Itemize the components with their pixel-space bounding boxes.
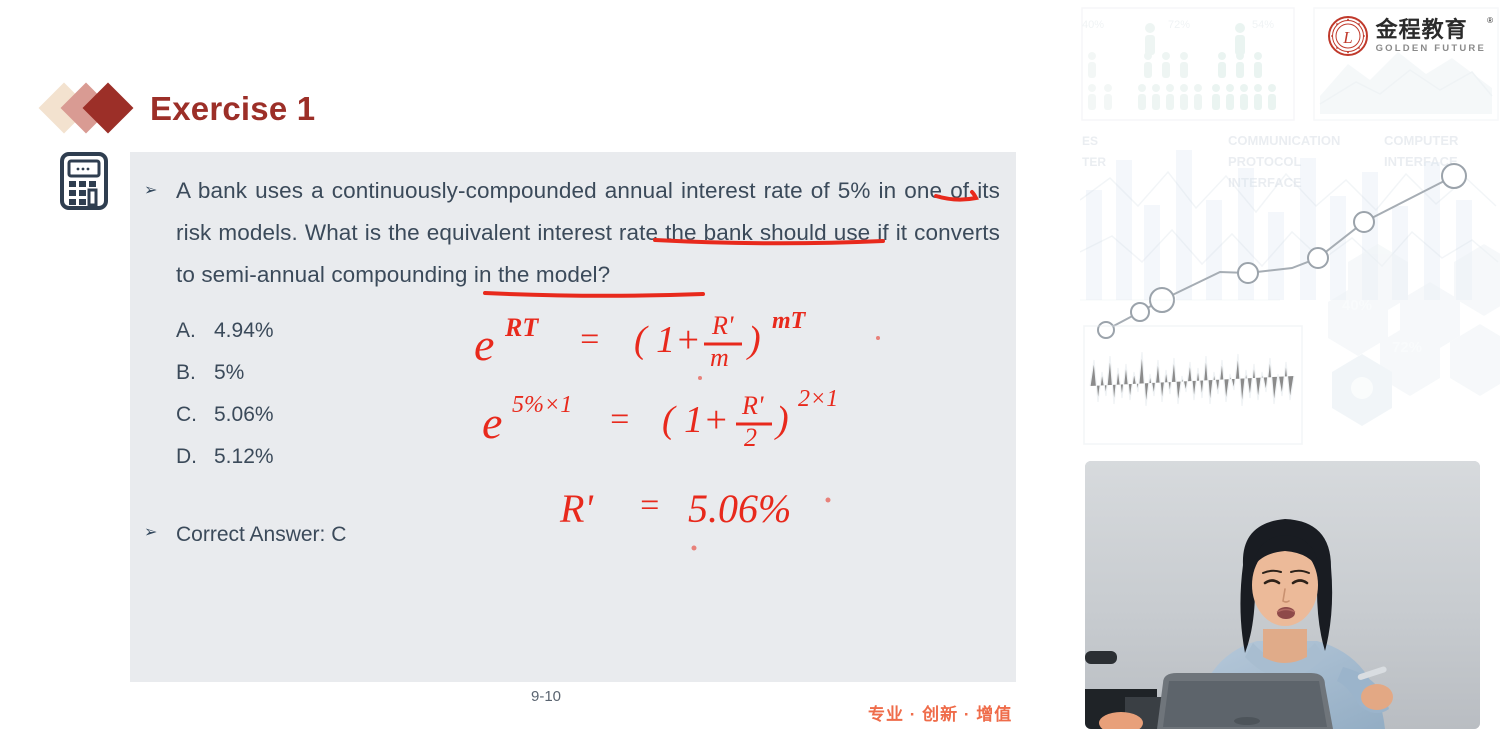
option-row[interactable]: B. 5% bbox=[176, 352, 1000, 394]
question-text: A bank uses a continuously-compounded an… bbox=[176, 170, 1000, 296]
svg-text:40%: 40% bbox=[1082, 19, 1104, 31]
footer-slogan: 专业 · 创新 · 增值 bbox=[868, 700, 1012, 725]
question-bullet-row: ➢ A bank uses a continuously-compounded … bbox=[144, 170, 1000, 296]
option-letter: C. bbox=[176, 394, 200, 436]
hexagon-cluster: 40% 72% bbox=[1328, 244, 1500, 426]
svg-text:PROTOCOL: PROTOCOL bbox=[1228, 154, 1301, 169]
svg-text:54%: 54% bbox=[1252, 19, 1274, 31]
option-letter: B. bbox=[176, 352, 200, 394]
svg-text:40%: 40% bbox=[1342, 297, 1372, 314]
page-number: 9-10 bbox=[531, 688, 561, 705]
arrow-bullet-icon: ➢ bbox=[144, 180, 170, 200]
option-row[interactable]: C. 5.06% bbox=[176, 394, 1000, 436]
instructor-hand bbox=[1361, 684, 1393, 710]
logo-chinese-name: 金程教育 ® bbox=[1376, 19, 1486, 41]
correct-answer-row: ➢ Correct Answer: C bbox=[144, 520, 1000, 550]
presentation-screen: Exercise 1 ➢ bbox=[0, 0, 1500, 750]
options-list: A. 4.94% B. 5% C. 5.06% D. 5.12% bbox=[144, 310, 1000, 478]
option-value: 4.94% bbox=[214, 310, 274, 352]
diamond-logo-icon bbox=[46, 82, 134, 134]
svg-text:COMMUNICATION: COMMUNICATION bbox=[1228, 133, 1340, 148]
option-value: 5.12% bbox=[214, 436, 274, 478]
svg-text:COMPUTER: COMPUTER bbox=[1384, 133, 1459, 148]
arrow-bullet-icon: ➢ bbox=[144, 522, 170, 542]
svg-text:72%: 72% bbox=[1392, 339, 1422, 356]
option-letter: A. bbox=[176, 310, 200, 352]
logo-text-group: 金程教育 ® GOLDEN FUTURE bbox=[1376, 19, 1486, 54]
option-letter: D. bbox=[176, 436, 200, 478]
svg-text:TER: TER bbox=[1082, 155, 1106, 169]
instructor-video-frame bbox=[1085, 461, 1480, 729]
option-value: 5.06% bbox=[214, 394, 274, 436]
logo-english-name: GOLDEN FUTURE bbox=[1376, 44, 1486, 54]
question-panel: ➢ A bank uses a continuously-compounded … bbox=[130, 152, 1016, 682]
correct-answer-label: Correct Answer: C bbox=[176, 520, 346, 550]
faded-bar-chart bbox=[1086, 150, 1472, 300]
option-row[interactable]: D. 5.12% bbox=[176, 436, 1000, 478]
brand-logo: L 金程教育 ® GOLDEN FUTURE bbox=[1328, 16, 1486, 56]
page-title: Exercise 1 bbox=[150, 92, 315, 125]
option-row[interactable]: A. 4.94% bbox=[176, 310, 1000, 352]
svg-text:L: L bbox=[1342, 28, 1352, 47]
instructor-video-feed[interactable] bbox=[1085, 461, 1480, 729]
svg-text:72%: 72% bbox=[1168, 19, 1190, 31]
background-infographic: 40% 72% 54% ES TER COMMUNICATION PROTOCO… bbox=[1080, 0, 1500, 460]
logo-cn-text: 金程教育 bbox=[1376, 17, 1468, 42]
calculator-icon bbox=[60, 152, 108, 210]
slide-title-row: Exercise 1 bbox=[46, 82, 315, 134]
laptop bbox=[1157, 673, 1333, 729]
people-infographic-card: 40% 72% 54% bbox=[1082, 8, 1294, 120]
slide-area: Exercise 1 ➢ bbox=[0, 0, 1080, 750]
svg-text:ES: ES bbox=[1082, 134, 1098, 148]
logo-seal-icon: L bbox=[1328, 16, 1368, 56]
registered-mark: ® bbox=[1487, 17, 1494, 25]
waveform-card bbox=[1084, 326, 1302, 444]
option-value: 5% bbox=[214, 352, 244, 394]
